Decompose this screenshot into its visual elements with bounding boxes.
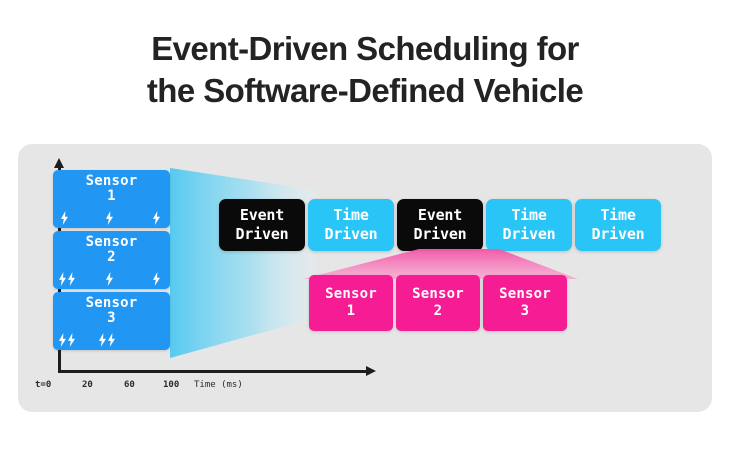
timeline-slot-row: Event Driven Time Driven Event Driven Ti… — [219, 199, 661, 251]
sensor-input-box-1[interactable]: Sensor 1 — [53, 170, 170, 228]
lightning-bolt-icon — [58, 333, 67, 347]
sensor-input-index-1: 1 — [107, 188, 116, 204]
dispatched-sensor-box-2[interactable]: Sensor 2 — [396, 275, 480, 331]
dispatched-sensor-row: Sensor 1 Sensor 2 Sensor 3 — [309, 275, 567, 331]
timeline-slot-4-line-1: Time — [511, 206, 546, 225]
sensor-input-box-3[interactable]: Sensor 3 — [53, 292, 170, 350]
timeline-slot-2-time-driven[interactable]: Time Driven — [308, 199, 394, 251]
sensor-input-bolts-1 — [58, 209, 165, 225]
dispatched-sensor-name-1: Sensor — [325, 286, 377, 303]
lightning-bolt-icon — [98, 333, 107, 347]
lightning-bolt-icon — [60, 211, 69, 225]
axis-unit-label: Time (ms) — [194, 380, 243, 390]
page-title-line-2: the Software-Defined Vehicle — [0, 70, 730, 112]
sensor-input-index-2: 2 — [107, 249, 116, 265]
sensor-input-label-1: Sensor 1 — [53, 174, 170, 204]
axis-tick-20: 20 — [82, 380, 93, 390]
page-title-line-1: Event-Driven Scheduling for — [0, 28, 730, 70]
timeline-slot-5-time-driven[interactable]: Time Driven — [575, 199, 661, 251]
blue-fan-connector — [170, 168, 315, 358]
bolt-group-1c — [152, 211, 161, 225]
bolt-group-1a — [60, 211, 69, 225]
timeline-slot-1-event-driven[interactable]: Event Driven — [219, 199, 305, 251]
dispatched-sensor-index-3: 3 — [521, 303, 530, 320]
timeline-slot-5-line-2: Driven — [592, 225, 645, 244]
timeline-slot-3-line-1: Event — [418, 206, 462, 225]
axis-tick-60: 60 — [124, 380, 135, 390]
timeline-slot-4-time-driven[interactable]: Time Driven — [486, 199, 572, 251]
timeline-slot-1-line-2: Driven — [236, 225, 289, 244]
diagram-panel: t=0 20 60 100 Time (ms) Sensor 1 — [18, 144, 712, 412]
lightning-bolt-icon — [105, 272, 114, 286]
timeline-slot-2-line-1: Time — [333, 206, 368, 225]
sensor-input-box-2[interactable]: Sensor 2 — [53, 231, 170, 289]
sensor-input-label-3: Sensor 3 — [53, 296, 170, 326]
timeline-slot-2-line-2: Driven — [325, 225, 378, 244]
sensor-input-bolts-3 — [58, 331, 165, 347]
page-title: Event-Driven Scheduling for the Software… — [0, 28, 730, 112]
sensor-input-name-1: Sensor — [86, 173, 138, 189]
sensor-input-stack: Sensor 1 Sensor 2 — [53, 170, 170, 353]
axis-tick-100: 100 — [163, 380, 179, 390]
lightning-bolt-icon — [152, 272, 161, 286]
bolt-group-2c — [152, 272, 161, 286]
timeline-slot-4-line-2: Driven — [503, 225, 556, 244]
sensor-input-name-3: Sensor — [86, 295, 138, 311]
timeline-slot-3-line-2: Driven — [414, 225, 467, 244]
lightning-bolt-icon — [107, 333, 116, 347]
timeline-slot-3-event-driven[interactable]: Event Driven — [397, 199, 483, 251]
timeline-slot-5-line-1: Time — [600, 206, 635, 225]
lightning-bolt-icon — [105, 211, 114, 225]
bolt-group-3b — [98, 333, 116, 347]
bolt-group-2a — [58, 272, 76, 286]
sensor-input-index-3: 3 — [107, 310, 116, 326]
sensor-input-bolts-2 — [58, 270, 165, 286]
arrow-right-icon — [366, 366, 376, 376]
dispatched-sensor-box-1[interactable]: Sensor 1 — [309, 275, 393, 331]
dispatched-sensor-box-3[interactable]: Sensor 3 — [483, 275, 567, 331]
lightning-bolt-icon — [58, 272, 67, 286]
lightning-bolt-icon — [67, 272, 76, 286]
lightning-bolt-icon — [152, 211, 161, 225]
dispatched-sensor-name-3: Sensor — [499, 286, 551, 303]
bolt-group-2b — [105, 272, 114, 286]
dispatched-sensor-index-2: 2 — [434, 303, 443, 320]
bolt-group-3a — [58, 333, 76, 347]
bolt-group-1b — [105, 211, 114, 225]
sensor-input-label-2: Sensor 2 — [53, 235, 170, 265]
x-axis-line — [58, 370, 368, 373]
dispatched-sensor-index-1: 1 — [347, 303, 356, 320]
axis-tick-t0: t=0 — [35, 380, 51, 390]
sensor-input-name-2: Sensor — [86, 234, 138, 250]
lightning-bolt-icon — [67, 333, 76, 347]
timeline-slot-1-line-1: Event — [240, 206, 284, 225]
dispatched-sensor-name-2: Sensor — [412, 286, 464, 303]
